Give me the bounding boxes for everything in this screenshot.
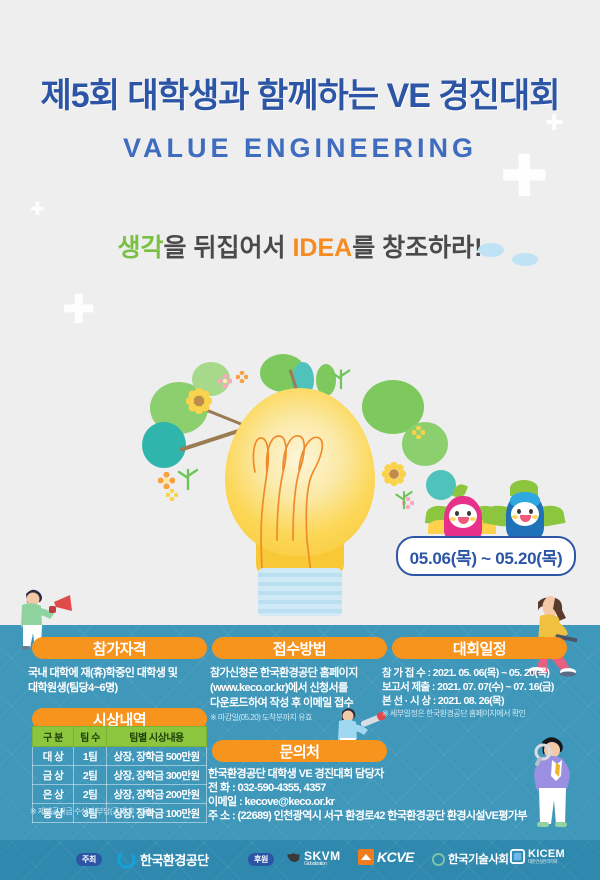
leaf-shape — [142, 422, 186, 468]
sprig-shape — [328, 364, 354, 395]
slogan-part-4: 를 창조하라! — [352, 234, 482, 262]
kicem-mark-icon — [510, 849, 525, 864]
award-detail: 상장, 장학금 200만원 — [107, 785, 207, 804]
sprig-shape — [174, 464, 202, 495]
keco-circle-icon — [117, 850, 136, 869]
contact-body: 한국환경공단 대학생 VE 경진대회 담당자 전 화 : 032-590-435… — [208, 767, 588, 823]
lightbulb-illustration — [140, 360, 460, 625]
sparkle-icon: ✚ — [30, 200, 45, 218]
contact-phone: 전 화 : 032-590-4355, 4357 — [208, 781, 588, 795]
slogan-part-3: IDEA — [292, 234, 352, 262]
sponsor-sub-skvm: Globalization — [304, 862, 341, 867]
application-line-2: (www.keco.or.kr)에서 신청서를 — [210, 681, 405, 696]
sparkle-icon: ✚ — [62, 290, 96, 330]
slogan-blob — [478, 243, 504, 257]
award-detail: 상장, 장학금 300만원 — [107, 766, 207, 785]
sponsor-logo-kanse: 한국기술사회 — [432, 851, 508, 867]
leaf-shape — [402, 422, 448, 466]
kanse-mark-icon — [432, 853, 445, 866]
schedule-heading: 대회일정 — [392, 637, 567, 659]
contact-organization: 한국환경공단 대학생 VE 경진대회 담당자 — [208, 767, 588, 781]
sponsor-tag: 후원 — [248, 853, 274, 866]
eligibility-body: 국내 대학에 재(휴)학중인 대학생 및 대학원생(팀당4~6명) — [28, 666, 218, 696]
schedule-row-1: 참 가 접 수 : 2021. 05. 06(목) ~ 05. 20(목) — [382, 666, 587, 680]
sponsor-logo-kicem: KICEM 대한건설관리학회 — [510, 849, 565, 865]
awards-header-row: 구 분 팀 수 팀별 시상내용 — [33, 727, 207, 747]
awards-col-category: 구 분 — [33, 727, 74, 747]
slogan-part-1: 생각 — [118, 234, 164, 262]
table-row: 대 상 1팀 상장, 장학금 500만원 — [33, 747, 207, 766]
sponsor-sub-kicem: 대한건설관리학회 — [528, 860, 565, 865]
sponsor-logo-kcve: KCVE — [358, 849, 414, 865]
poster-root: ✚ ✚ ✚ ✚ 제5회 대학생과 함께하는 VE 경진대회 VALUE ENGI… — [0, 0, 600, 880]
flower-icon — [186, 388, 212, 419]
slogan-part-2: 을 뒤집어서 — [164, 234, 293, 262]
contact-email: 이메일 : kecove@keco.or.kr — [208, 795, 588, 809]
eligibility-line-1: 국내 대학에 재(휴)학중인 대학생 및 — [28, 666, 218, 681]
application-note: ※ 마감일(05.20) 도착분까지 유효 — [210, 712, 312, 723]
awards-col-detail: 팀별 시상내용 — [107, 727, 207, 747]
sponsor-name-kcve: KCVE — [377, 849, 414, 865]
award-teams: 2팀 — [74, 785, 107, 804]
application-line-3: 다운로드하여 작성 후 이메일 접수 — [210, 696, 405, 711]
award-teams: 2팀 — [74, 766, 107, 785]
bull-icon — [286, 852, 301, 866]
host-tag: 주최 — [76, 853, 102, 866]
award-detail: 상장, 장학금 500만원 — [107, 747, 207, 766]
contact-address: 주 소 : (22689) 인천광역시 서구 환경로42 한국환경공단 환경시설… — [208, 809, 588, 823]
sprig-shape — [392, 486, 416, 515]
application-body: 참가신청은 한국환경공단 홈페이지 (www.keco.or.kr)에서 신청서… — [210, 666, 405, 711]
eligibility-line-2: 대학원생(팀당4~6명) — [28, 681, 218, 696]
table-row: 금 상 2팀 상장, 장학금 300만원 — [33, 766, 207, 785]
schedule-body: 참 가 접 수 : 2021. 05. 06(목) ~ 05. 20(목) 보고… — [382, 666, 587, 708]
contact-heading: 문의처 — [212, 740, 387, 762]
host-name: 한국환경공단 — [140, 850, 209, 869]
schedule-row-2: 보고서 제출 : 2021. 07. 07(수) ~ 07. 16(금) — [382, 680, 587, 694]
kcve-mark-icon — [358, 849, 374, 865]
application-line-1: 참가신청은 한국환경공단 홈페이지 — [210, 666, 405, 681]
flower-icon — [236, 370, 248, 388]
schedule-row-3: 본 선 · 시 상 : 2021. 08. 26(목) — [382, 694, 587, 708]
schedule-note: ※ 세부일정은 한국환경공단 홈페이지에서 확인 — [382, 708, 525, 719]
page-title: 제5회 대학생과 함께하는 VE 경진대회 — [0, 68, 600, 117]
award-category: 은 상 — [33, 785, 74, 804]
award-teams: 1팀 — [74, 747, 107, 766]
award-category: 대 상 — [33, 747, 74, 766]
bulb-base — [258, 568, 342, 616]
flower-icon — [412, 426, 425, 444]
table-row: 은 상 2팀 상장, 장학금 200만원 — [33, 785, 207, 804]
sponsor-logo-skvm: SKVM Globalization — [286, 850, 341, 867]
flower-icon — [218, 374, 232, 393]
eligibility-heading: 참가자격 — [32, 637, 207, 659]
sponsor-name-kanse: 한국기술사회 — [448, 851, 508, 867]
award-category: 금 상 — [33, 766, 74, 785]
host-logo: 한국환경공단 — [117, 850, 209, 869]
slogan: 생각을 뒤집어서 IDEA를 창조하라! — [0, 228, 600, 264]
application-heading: 접수방법 — [212, 637, 387, 659]
page-subtitle-english: VALUE ENGINEERING — [0, 133, 600, 164]
event-date-badge: 05.06(목) ~ 05.20(목) — [396, 536, 576, 576]
awards-note: ※ 제세공과금 수상자 부담(공제 후 지급) — [30, 806, 152, 817]
awards-col-teams: 팀 수 — [74, 727, 107, 747]
